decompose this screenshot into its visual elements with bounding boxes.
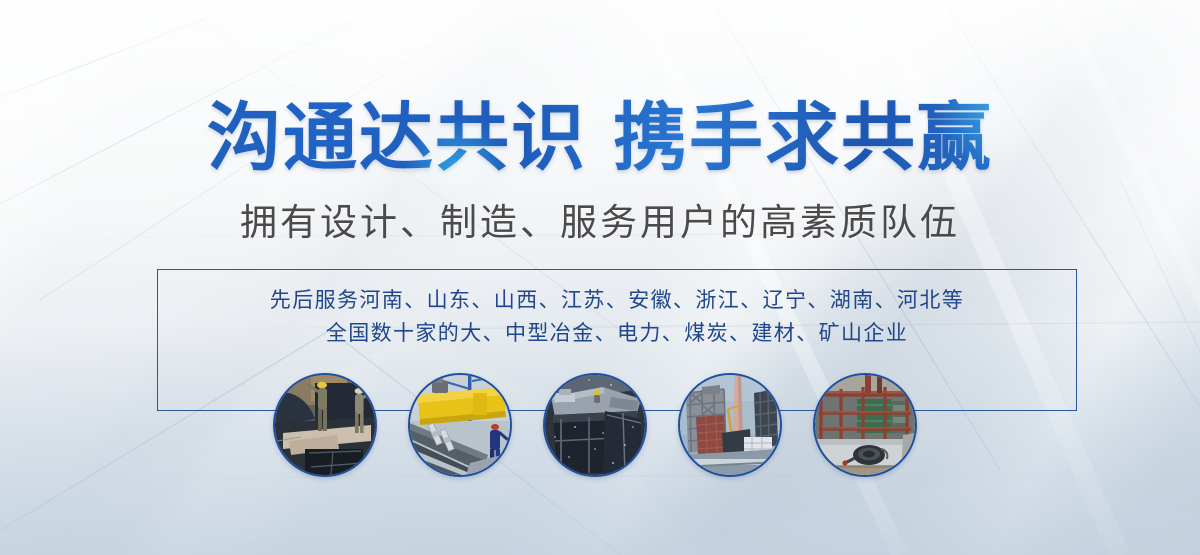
photo-industrial-plant-stack[interactable]	[678, 373, 782, 477]
project-photo-strip	[273, 373, 917, 477]
headline-part-2: 携手求共赢	[613, 96, 993, 179]
service-scope-line-2: 全国数十家的大、中型冶金、电力、煤炭、建材、矿山企业	[158, 317, 1076, 350]
service-scope-line-1: 先后服务河南、山东、山西、江苏、安徽、浙江、辽宁、湖南、河北等	[158, 284, 1076, 317]
photo-dark-steel-structure[interactable]	[543, 373, 647, 477]
photo-dark-steel-structure-image	[545, 375, 645, 475]
photo-factory-interior-frame-image	[815, 375, 915, 475]
service-scope-text: 先后服务河南、山东、山西、江苏、安徽、浙江、辽宁、湖南、河北等 全国数十家的大、…	[158, 284, 1076, 350]
photo-steel-plate-workers[interactable]	[273, 373, 377, 477]
headline-part-1: 沟通达共识	[207, 96, 587, 179]
photo-yellow-equipment-pipes[interactable]	[408, 373, 512, 477]
photo-steel-plate-workers-image	[275, 375, 375, 475]
headline: 沟通达共识携手求共赢	[0, 92, 1200, 184]
photo-industrial-plant-stack-image	[680, 375, 780, 475]
subtitle: 拥有设计、制造、服务用户的高素质队伍	[0, 198, 1200, 248]
photo-yellow-equipment-pipes-image	[410, 375, 510, 475]
photo-factory-interior-frame[interactable]	[813, 373, 917, 477]
promo-banner: 沟通达共识携手求共赢 拥有设计、制造、服务用户的高素质队伍 先后服务河南、山东、…	[0, 0, 1200, 555]
